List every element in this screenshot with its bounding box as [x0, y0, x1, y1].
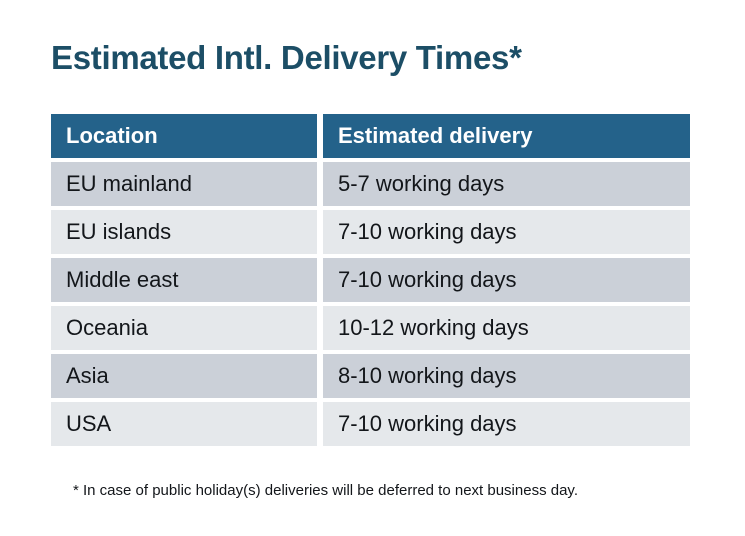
cell-delivery: 5-7 working days [323, 162, 690, 206]
table-row: Asia 8-10 working days [51, 354, 690, 398]
table-row: USA 7-10 working days [51, 402, 690, 446]
table-row: Middle east 7-10 working days [51, 258, 690, 302]
cell-location: EU islands [51, 210, 317, 254]
table-row: EU mainland 5-7 working days [51, 162, 690, 206]
cell-delivery: 7-10 working days [323, 258, 690, 302]
page-root: Estimated Intl. Delivery Times* Location… [0, 0, 745, 536]
cell-location: Oceania [51, 306, 317, 350]
cell-location: USA [51, 402, 317, 446]
delivery-times-table: Location Estimated delivery EU mainland … [51, 114, 690, 446]
cell-delivery: 7-10 working days [323, 210, 690, 254]
page-title: Estimated Intl. Delivery Times* [51, 36, 522, 80]
cell-location: Middle east [51, 258, 317, 302]
cell-delivery: 10-12 working days [323, 306, 690, 350]
table-row: Oceania 10-12 working days [51, 306, 690, 350]
column-header-estimated-delivery: Estimated delivery [323, 114, 690, 158]
cell-location: EU mainland [51, 162, 317, 206]
table-header-row: Location Estimated delivery [51, 114, 690, 158]
cell-location: Asia [51, 354, 317, 398]
table-row: EU islands 7-10 working days [51, 210, 690, 254]
cell-delivery: 7-10 working days [323, 402, 690, 446]
column-header-location: Location [51, 114, 317, 158]
footnote-text: * In case of public holiday(s) deliverie… [73, 481, 578, 501]
cell-delivery: 8-10 working days [323, 354, 690, 398]
